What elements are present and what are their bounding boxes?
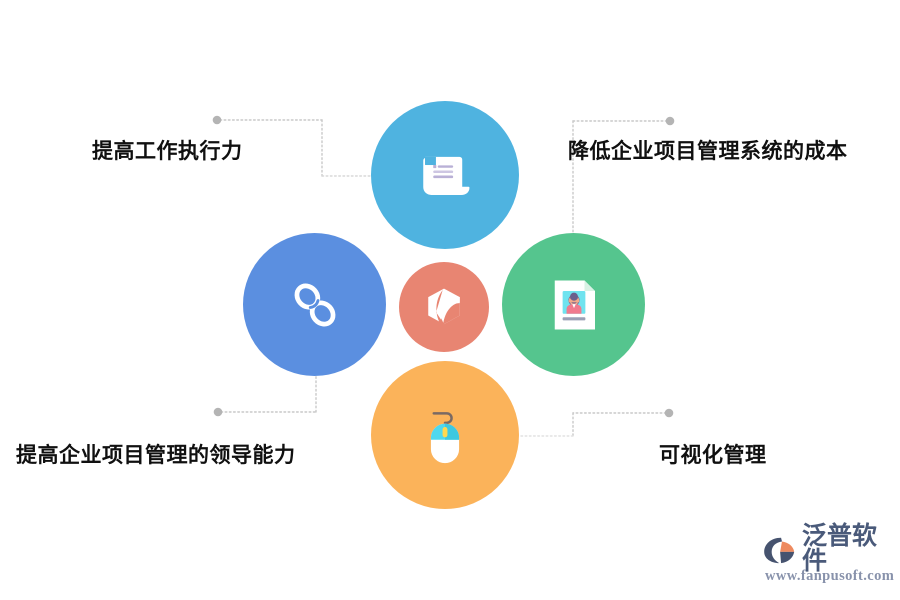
brand-logo: 泛普软件 www.fanpusoft.com — [763, 532, 893, 590]
node-left-chain[interactable] — [243, 233, 386, 376]
brand-url: www.fanpusoft.com — [765, 568, 893, 585]
connector-bottom-left — [214, 368, 316, 416]
connector-dot — [666, 117, 675, 126]
chain-link-icon — [287, 277, 343, 333]
computer-mouse-icon — [417, 404, 473, 466]
brand-name: 泛普软件 — [802, 524, 893, 574]
node-top-scroll[interactable] — [371, 101, 519, 249]
id-card-document-icon — [549, 277, 599, 333]
node-bottom-mouse[interactable] — [371, 361, 519, 509]
connector-dot — [214, 408, 223, 417]
scroll-document-icon — [416, 146, 474, 204]
connector-bottom-right — [520, 409, 673, 436]
infographic-canvas: 提高工作执行力 降低企业项目管理系统的成本 提高企业项目管理的领导能力 可视化管… — [0, 0, 900, 600]
leaf-hexagon-icon — [423, 286, 465, 328]
fanpu-logo-mark-icon — [763, 534, 801, 564]
label-top-right: 降低企业项目管理系统的成本 — [568, 141, 848, 162]
label-bottom-right: 可视化管理 — [659, 445, 767, 466]
label-top-left: 提高工作执行力 — [92, 141, 243, 162]
label-bottom-left: 提高企业项目管理的领导能力 — [16, 445, 296, 466]
node-center-leaf[interactable] — [399, 262, 489, 352]
connector-dot — [213, 116, 222, 125]
node-right-idcard[interactable] — [502, 233, 645, 376]
connector-dot — [665, 409, 674, 418]
connector-top-right — [573, 117, 674, 236]
